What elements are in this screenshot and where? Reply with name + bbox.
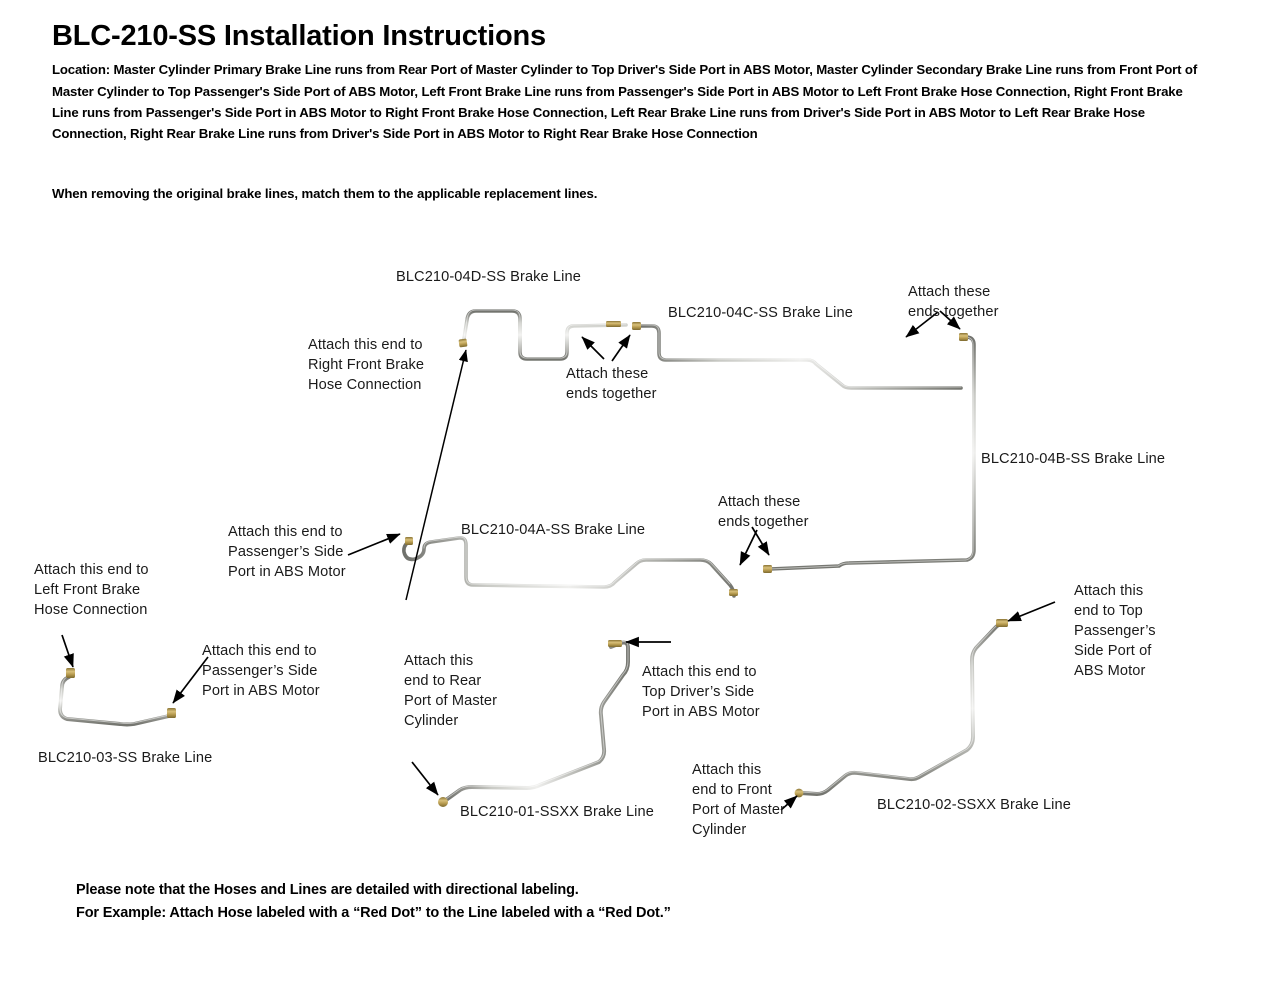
document-header: BLC-210-SS Installation Instructions Loc… xyxy=(52,20,1232,145)
label-line-04b: BLC210-04B-SS Brake Line xyxy=(981,450,1165,470)
arrow-passenger-port-04a xyxy=(348,534,400,555)
installation-instructions-page: BLC-210-SS Installation Instructions Loc… xyxy=(0,0,1280,989)
annotation-front-port-master: Attach this end to Front Port of Master … xyxy=(692,761,785,841)
footer-note: Please note that the Hoses and Lines are… xyxy=(76,879,671,926)
annotation-rear-port-master: Attach this end to Rear Port of Master C… xyxy=(404,652,497,732)
fitting-04b-top xyxy=(959,333,968,341)
fitting-01-left xyxy=(438,797,448,807)
label-line-04d: BLC210-04D-SS Brake Line xyxy=(396,268,581,288)
arrow-left-front-hose xyxy=(62,635,73,667)
brake-line-04a xyxy=(404,537,738,596)
brake-line-04b xyxy=(763,333,974,573)
arrow-ends-together-left-b xyxy=(612,335,630,361)
removal-note: When removing the original brake lines, … xyxy=(52,186,597,201)
label-line-01: BLC210-01-SSXX Brake Line xyxy=(460,803,654,823)
fitting-04d-left xyxy=(458,338,467,347)
fitting-04a-left xyxy=(405,537,413,545)
fitting-04a-right xyxy=(729,589,738,596)
fitting-02-top xyxy=(996,619,1008,627)
arrow-ends-together-left-a xyxy=(582,337,604,359)
fitting-03-right xyxy=(167,708,176,718)
arrow-top-passenger-port xyxy=(1008,602,1055,621)
annotation-top-driver-port: Attach this end to Top Driver’s Side Por… xyxy=(642,663,760,723)
annotation-passenger-port-04a: Attach this end to Passenger’s Side Port… xyxy=(228,523,346,583)
brake-lines-svg xyxy=(0,225,1280,875)
annotation-passenger-port-03: Attach this end to Passenger’s Side Port… xyxy=(202,642,320,702)
annotation-left-front-hose: Attach this end to Left Front Brake Hose… xyxy=(34,561,149,621)
annotation-ends-together-top-left: Attach these ends together xyxy=(566,365,657,405)
annotation-ends-together-middle: Attach these ends together xyxy=(718,493,809,533)
page-title: BLC-210-SS Installation Instructions xyxy=(52,20,1232,53)
fitting-03-left xyxy=(66,668,75,678)
annotation-top-passenger-port: Attach this end to Top Passenger’s Side … xyxy=(1074,582,1156,682)
fitting-04b-left xyxy=(763,565,772,573)
annotation-ends-together-top-right: Attach these ends together xyxy=(908,283,999,323)
annotation-right-front-hose: Attach this end to Right Front Brake Hos… xyxy=(308,336,424,396)
footer-line-2: For Example: Attach Hose labeled with a … xyxy=(76,902,671,925)
label-line-03: BLC210-03-SS Brake Line xyxy=(38,749,212,769)
arrow-rear-port-master xyxy=(412,762,438,795)
arrow-ends-together-mid-a xyxy=(740,530,757,565)
fitting-04d-right xyxy=(606,321,621,327)
brake-line-diagram: BLC210-04D-SS Brake Line BLC210-04C-SS B… xyxy=(0,225,1280,875)
brake-line-02 xyxy=(795,619,1008,797)
location-paragraph: Location: Master Cylinder Primary Brake … xyxy=(52,59,1212,145)
brake-line-04d xyxy=(458,310,626,359)
fitting-01-top xyxy=(608,640,622,647)
fitting-04c-left xyxy=(632,322,641,330)
label-line-04a: BLC210-04A-SS Brake Line xyxy=(461,521,645,541)
label-line-04c: BLC210-04C-SS Brake Line xyxy=(668,304,853,324)
brake-line-03 xyxy=(60,668,176,725)
label-line-02: BLC210-02-SSXX Brake Line xyxy=(877,796,1071,816)
footer-line-1: Please note that the Hoses and Lines are… xyxy=(76,879,671,902)
